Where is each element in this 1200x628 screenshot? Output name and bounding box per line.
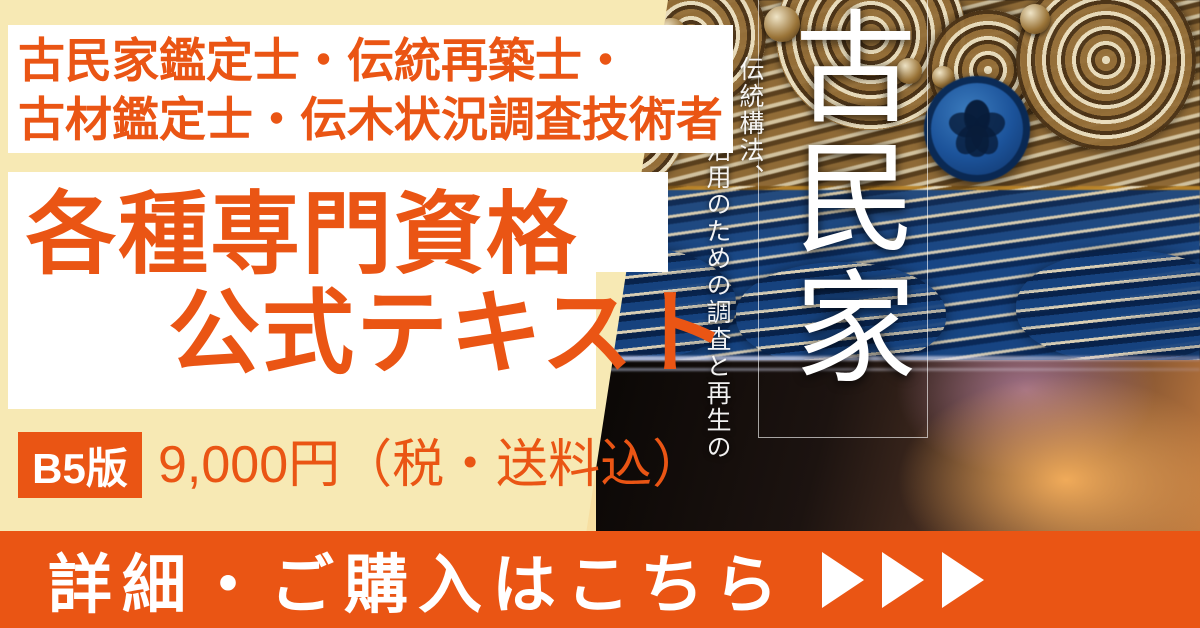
cta-arrows [822, 552, 984, 608]
arrow-right-icon [942, 552, 984, 608]
cta-bar[interactable]: 詳細・ご購入はこちら [0, 531, 1200, 628]
main-title-line1: 各種専門資格 [26, 190, 578, 280]
family-crest-mon [924, 76, 1030, 182]
size-badge: B5版 [18, 432, 142, 498]
cta-label: 詳細・ご購入はこちら [48, 534, 788, 626]
price-text: 9,000円（税・送料込） [158, 433, 704, 497]
qualification-headline: 古民家鑑定士・伝統再築士・ 古材鑑定士・伝木状況調査技術者 [18, 31, 730, 149]
main-title-line2: 公式テキスト [168, 288, 729, 380]
arrow-right-icon [822, 552, 864, 608]
promo-banner: 古民家 伝統構法、 古民家活用のための調査と再生の 古民家鑑定士・伝統再築士・ … [0, 0, 1200, 628]
wood-bead [1020, 4, 1050, 34]
book-title-vertical: 古民家 [772, 4, 914, 394]
arrow-right-icon [882, 552, 924, 608]
